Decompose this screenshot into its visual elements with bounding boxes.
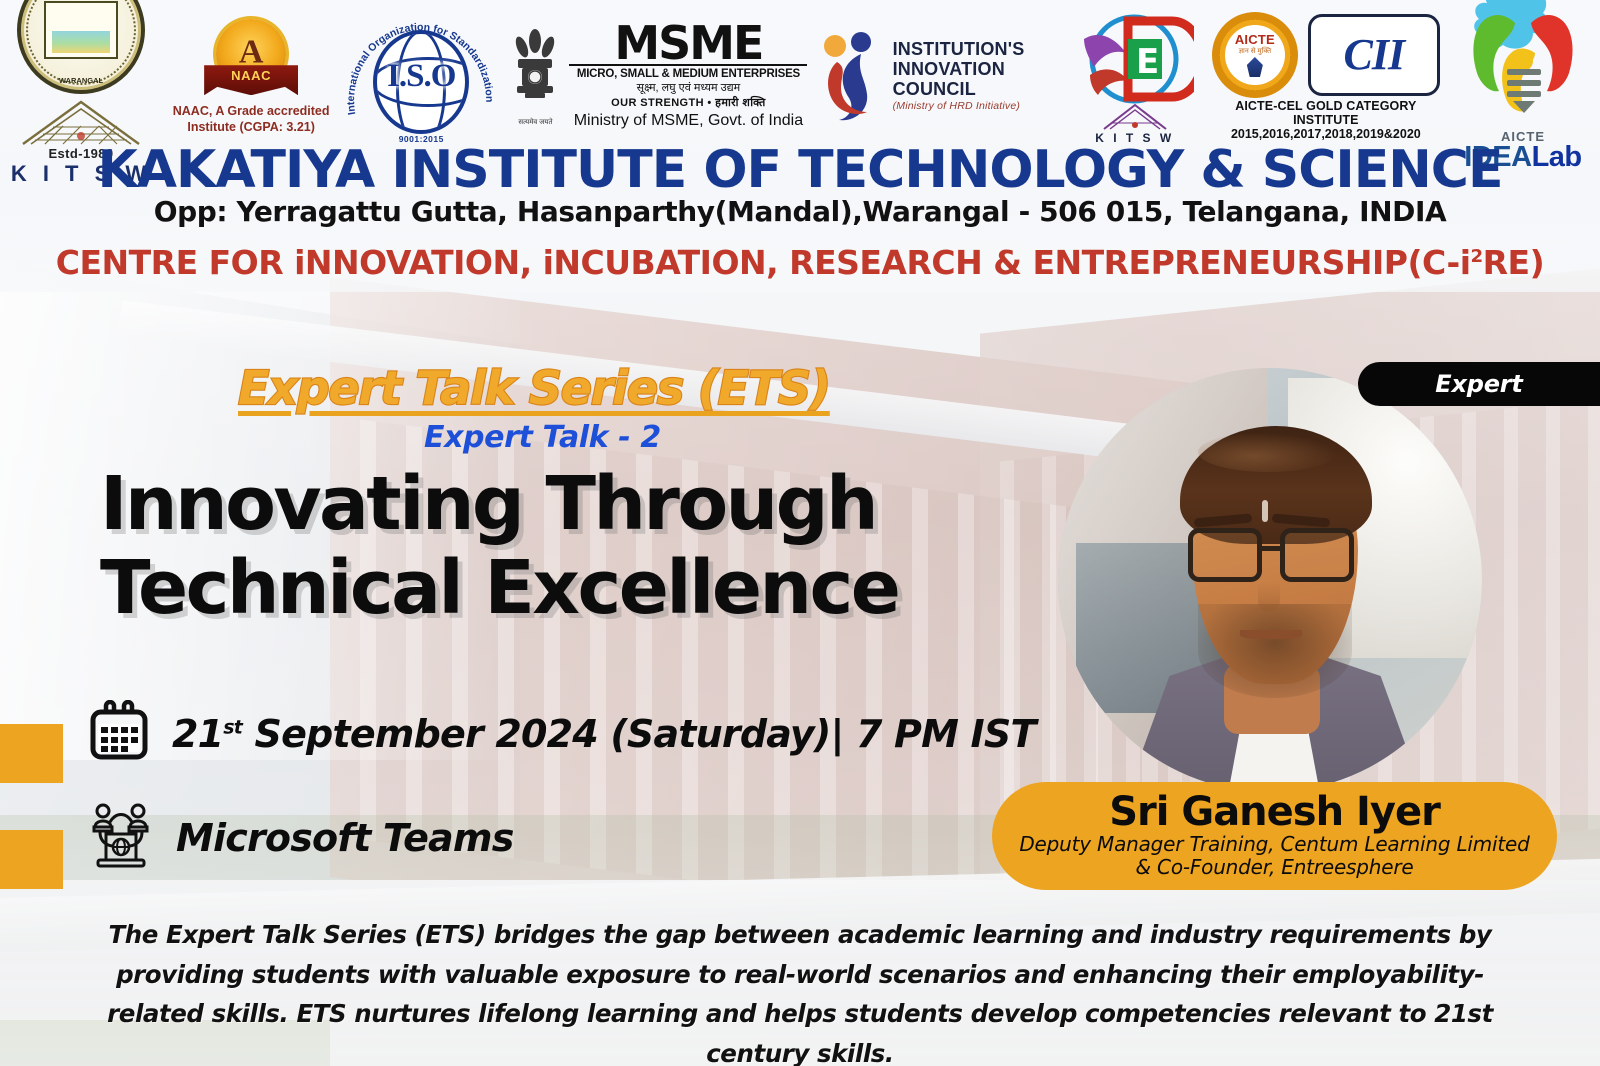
expert-badge-label: Expert xyxy=(1435,370,1522,398)
svg-text:International Organization for: International Organization for Standardi… xyxy=(346,21,495,115)
accreditation-logo-row: KAKATIYA INSTITUTE OF TECHNOLOGY & SCIEN… xyxy=(0,2,1600,150)
ed-cell-logo: E K I T S W xyxy=(1070,5,1200,147)
ed-cell-arch-icon xyxy=(1100,101,1170,131)
description-paragraph: The Expert Talk Series (ETS) bridges the… xyxy=(100,915,1500,1066)
india-emblem-icon: सत्यमेव जयते xyxy=(507,25,563,127)
iic-subtitle: (Ministry of HRD Initiative) xyxy=(893,101,1025,113)
crest-bottom-text: WARANGAL xyxy=(21,76,141,85)
centre-name: CENTRE FOR iNNOVATION, iNCUBATION, RESEA… xyxy=(0,243,1600,282)
speaker-name: Sri Ganesh Iyer xyxy=(1109,792,1440,833)
aicte-label: AICTE xyxy=(1235,32,1275,47)
iic-line1: INSTITUTION'S xyxy=(893,39,1025,59)
talk-title: Innovating Through Technical Excellence xyxy=(100,462,1000,631)
kitsw-seal-icon: KAKATIYA INSTITUTE OF TECHNOLOGY & SCIEN… xyxy=(17,0,145,94)
aicte-gear-icon: AICTE ज्ञान से मुक्ति xyxy=(1212,12,1298,98)
aicte-caption2: 2015,2016,2017,2018,2019&2020 xyxy=(1211,127,1441,141)
idea-lab-icon xyxy=(1455,0,1591,121)
accent-bar-date xyxy=(0,724,63,783)
msme-ministry-label: Ministry of MSME, Govt. of India xyxy=(569,112,807,130)
institute-name: KAKATIYA INSTITUTE OF TECHNOLOGY & SCIEN… xyxy=(0,140,1600,200)
series-subtitle: Expert Talk - 2 xyxy=(424,420,661,455)
series-title: Expert Talk Series (ETS) xyxy=(238,361,830,415)
cii-logo-box: CII xyxy=(1308,14,1440,96)
iso-logo: International Organization for Standardi… xyxy=(346,6,496,146)
accent-bar-venue xyxy=(0,830,63,889)
iic-figure-icon xyxy=(819,28,885,124)
naac-logo: NAAC NAAC, A Grade accredited Institute … xyxy=(167,17,335,135)
ed-cell-icon: E xyxy=(1076,9,1194,113)
event-poster: KAKATIYA INSTITUTE OF TECHNOLOGY & SCIEN… xyxy=(0,0,1600,1066)
msme-wordmark: MSME xyxy=(569,22,807,64)
poster-header: KAKATIYA INSTITUTE OF TECHNOLOGY & SCIEN… xyxy=(0,0,1600,292)
naac-badge-icon: NAAC xyxy=(203,17,299,103)
aicte-cii-logo: AICTE ज्ञान से मुक्ति CII AICTE-CEL GOLD… xyxy=(1211,12,1441,141)
speaker-card: Sri Ganesh Iyer Deputy Manager Training,… xyxy=(992,782,1557,890)
naac-ribbon-label: NAAC xyxy=(231,68,271,83)
institute-address: Opp: Yerragattu Gutta, Hasanparthy(Manda… xyxy=(0,195,1600,228)
iic-line2: INNOVATION xyxy=(893,59,1025,79)
speaker-role: Deputy Manager Training, Centum Learning… xyxy=(1019,833,1529,879)
msme-line2: सूक्ष्म, लघु एवं मध्यम उद्यम xyxy=(569,80,807,95)
venue-row: Microsoft Teams xyxy=(88,800,514,875)
svg-text:E: E xyxy=(1136,42,1159,82)
expert-badge: Expert xyxy=(1358,362,1600,406)
aicte-caption1: AICTE-CEL GOLD CATEGORY INSTITUTE xyxy=(1211,99,1441,127)
venue-text: Microsoft Teams xyxy=(176,816,514,860)
iic-logo: INSTITUTION'S INNOVATION COUNCIL (Minist… xyxy=(819,28,1059,124)
msme-line3: OUR STRENGTH • हमारी शक्ति xyxy=(569,95,807,110)
msme-logo: सत्यमेव जयते MSME MICRO, SMALL & MEDIUM … xyxy=(507,22,807,130)
date-time-row: 21st September 2024 (Saturday)| 7 PM IST xyxy=(88,700,1036,767)
iso-arc-text: International Organization for Standardi… xyxy=(346,6,496,146)
iic-line3: COUNCIL xyxy=(893,79,1025,99)
date-time-text: 21st September 2024 (Saturday)| 7 PM IST xyxy=(172,712,1036,756)
naac-caption: NAAC, A Grade accredited Institute (CGPA… xyxy=(167,104,335,135)
cii-label: CII xyxy=(1344,29,1405,80)
speaker-photo xyxy=(1058,368,1482,792)
online-meeting-icon xyxy=(88,800,154,875)
calendar-icon xyxy=(88,700,150,767)
